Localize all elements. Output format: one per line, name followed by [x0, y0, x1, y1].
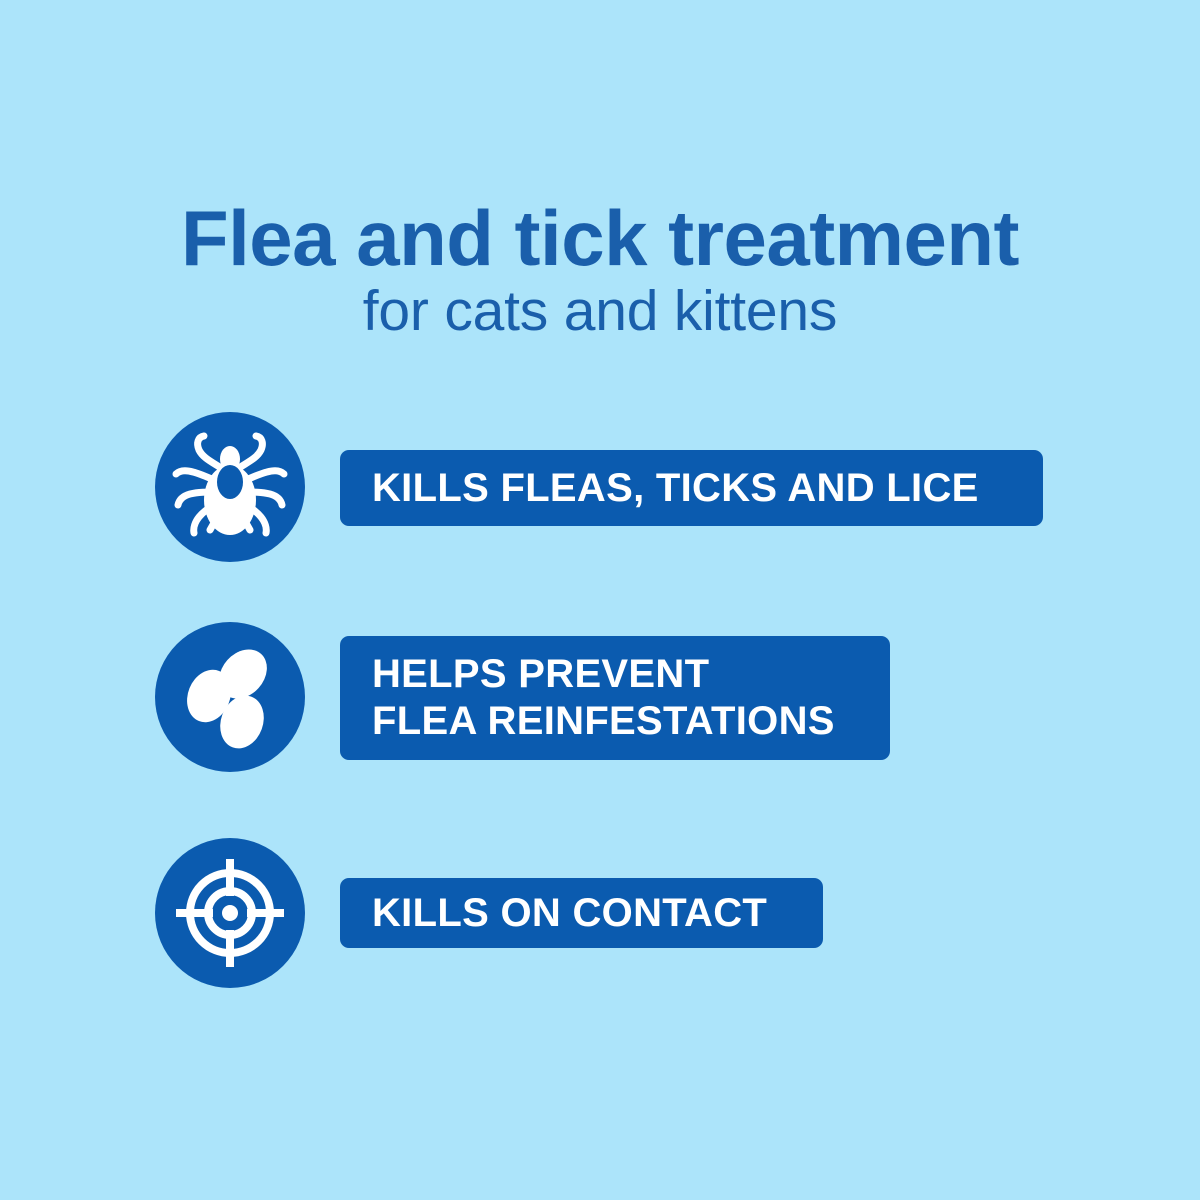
feature-label: KILLS FLEAS, TICKS AND LICE	[372, 465, 1043, 512]
feature-banner: KILLS ON CONTACT	[340, 878, 823, 948]
feature-label: KILLS ON CONTACT	[372, 890, 823, 937]
feature-label-line-2: FLEA REINFESTATIONS	[372, 698, 890, 745]
tick-icon	[155, 412, 305, 562]
feature-banner: KILLS FLEAS, TICKS AND LICE	[340, 450, 1043, 526]
headline-block: Flea and tick treatment for cats and kit…	[0, 196, 1200, 342]
crosshair-target-icon	[155, 838, 305, 988]
feature-banner: HELPS PREVENT FLEA REINFESTATIONS	[340, 636, 890, 760]
product-feature-panel: Flea and tick treatment for cats and kit…	[0, 0, 1200, 1200]
flea-eggs-icon	[155, 622, 305, 772]
feature-label: HELPS PREVENT	[372, 651, 890, 698]
page-subtitle: for cats and kittens	[0, 280, 1200, 342]
page-title: Flea and tick treatment	[0, 196, 1200, 280]
